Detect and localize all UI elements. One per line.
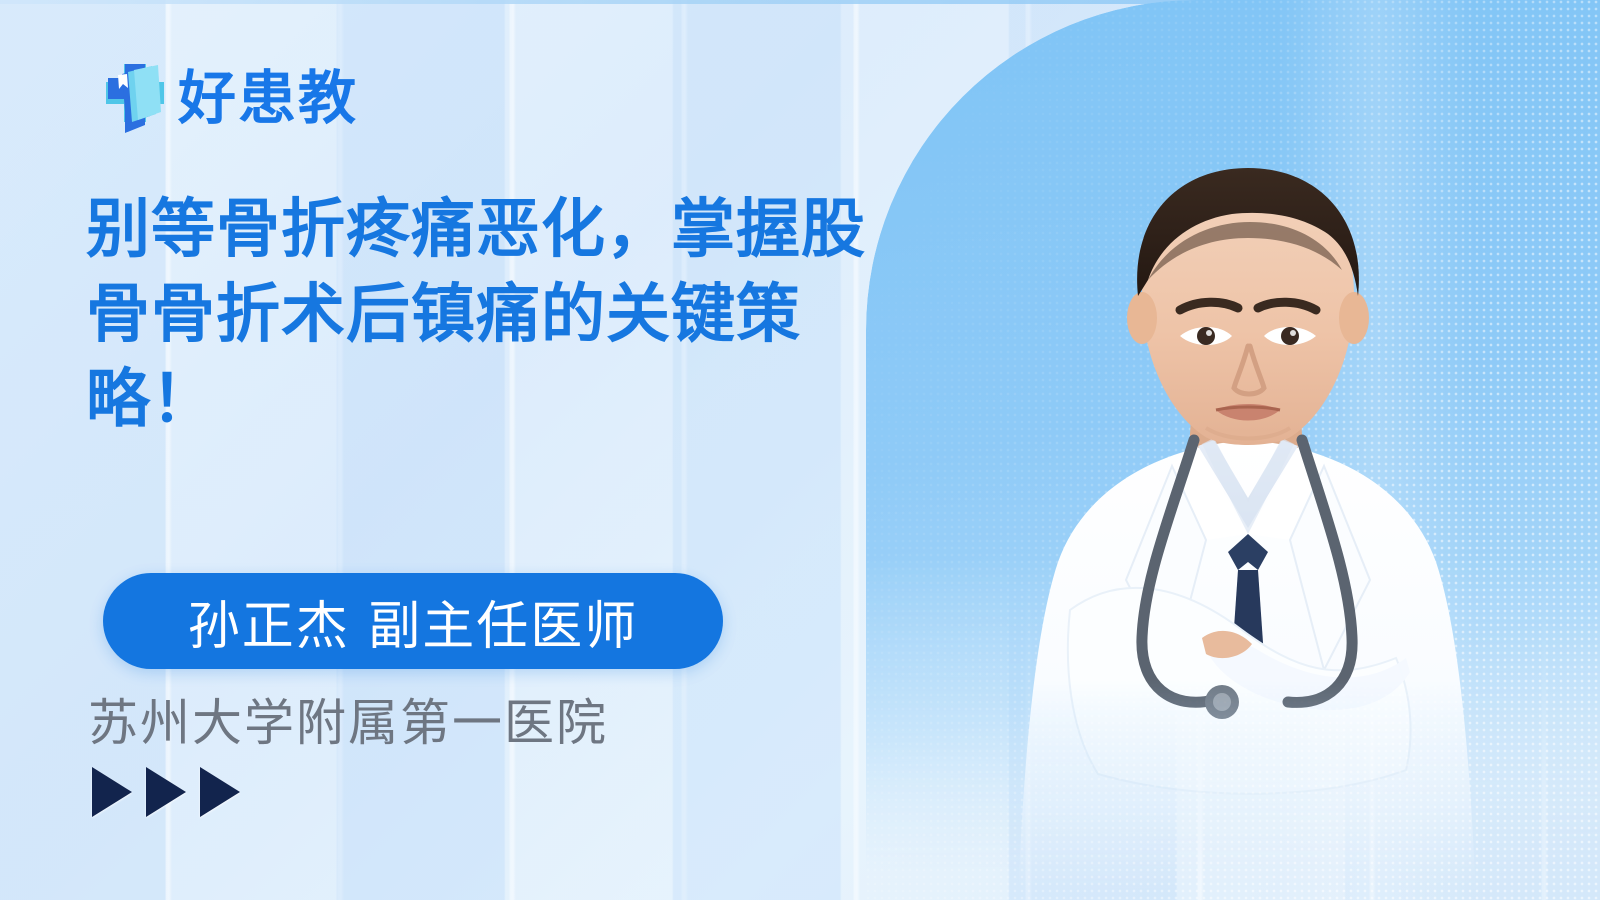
medical-cross-book-icon [88,58,166,138]
page-title: 别等骨折疼痛恶化，掌握股骨骨折术后镇痛的关键策略！ [86,188,876,443]
arrow-decoration [92,767,240,817]
brand-logo[interactable]: 好患教 [88,58,358,138]
play-triangle-icon [92,767,132,817]
brand-name: 好患教 [178,69,358,127]
play-triangle-icon [146,767,186,817]
doctor-portrait-image [966,110,1526,900]
hospital-name: 苏州大学附属第一医院 [88,683,608,755]
speaker-badge-label: 孙正杰 副主任医师 [188,584,639,659]
speaker-badge[interactable]: 孙正杰 副主任医师 [103,573,723,669]
play-triangle-icon [200,767,240,817]
doctor-photo-panel [866,0,1600,900]
poster-canvas: 好患教 别等骨折疼痛恶化，掌握股骨骨折术后镇痛的关键策略！ 孙正杰 副主任医师 … [0,0,1600,900]
